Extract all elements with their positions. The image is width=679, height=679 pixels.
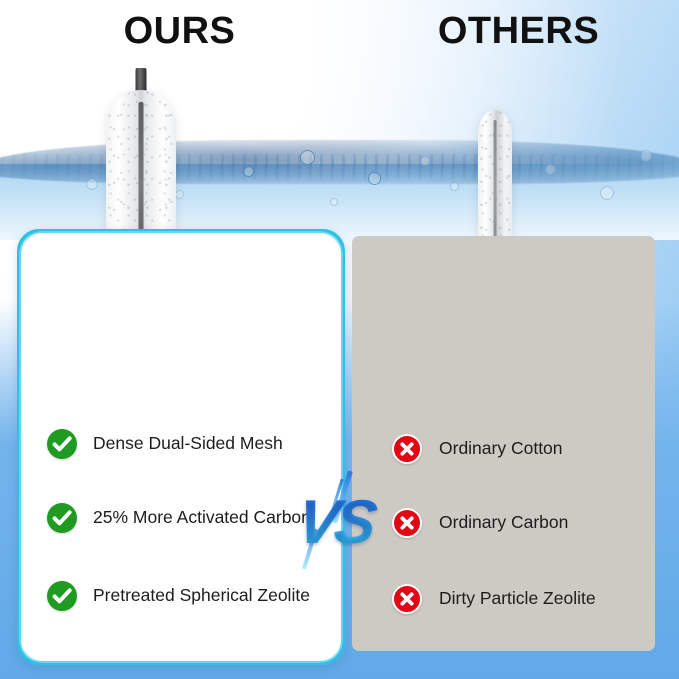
bubble-icon: [450, 182, 459, 191]
list-item: Ordinary Carbon: [392, 508, 645, 538]
panel-others: Ordinary Cotton Ordinary Carbon Dirty Pa…: [352, 236, 655, 651]
list-item-label: Ordinary Cotton: [439, 438, 563, 459]
page-title-ours: OURS: [62, 10, 297, 53]
cross-circle-icon: [392, 584, 422, 614]
check-circle-icon: [47, 503, 77, 533]
bubble-icon: [420, 156, 430, 166]
list-item: 25% More Activated Carbon: [47, 503, 327, 533]
check-circle-icon: [47, 429, 77, 459]
bubble-icon: [640, 150, 652, 162]
bubble-icon: [330, 198, 338, 206]
bubble-icon: [600, 186, 614, 200]
list-item-label: 25% More Activated Carbon: [93, 507, 311, 528]
list-item-label: Dense Dual-Sided Mesh: [93, 433, 283, 454]
list-item: Pretreated Spherical Zeolite: [47, 581, 327, 611]
bubble-icon: [545, 164, 556, 175]
panel-ours: Dense Dual-Sided Mesh 25% More Activated…: [17, 229, 345, 665]
list-item: Dirty Particle Zeolite: [392, 584, 645, 614]
page-title-others: OTHERS: [386, 10, 651, 53]
bubble-icon: [243, 166, 254, 177]
check-circle-icon: [47, 581, 77, 611]
bubble-icon: [368, 172, 381, 185]
water-wave-line: [0, 154, 679, 180]
list-item-label: Dirty Particle Zeolite: [439, 588, 596, 609]
bubble-icon: [175, 190, 184, 199]
cross-circle-icon: [392, 434, 422, 464]
comparison-graphic: OURS OTHERS: [0, 0, 679, 679]
list-item: Ordinary Cotton: [392, 434, 645, 464]
bubble-icon: [300, 150, 315, 165]
cross-circle-icon: [392, 508, 422, 538]
list-item-label: Pretreated Spherical Zeolite: [93, 585, 310, 606]
bubble-icon: [86, 178, 98, 190]
list-item: Dense Dual-Sided Mesh: [47, 429, 327, 459]
list-item-label: Ordinary Carbon: [439, 512, 568, 533]
feature-list-ours: Dense Dual-Sided Mesh 25% More Activated…: [21, 233, 341, 661]
feature-list-others: Ordinary Cotton Ordinary Carbon Dirty Pa…: [352, 236, 655, 651]
water-splash-band: [0, 120, 679, 240]
